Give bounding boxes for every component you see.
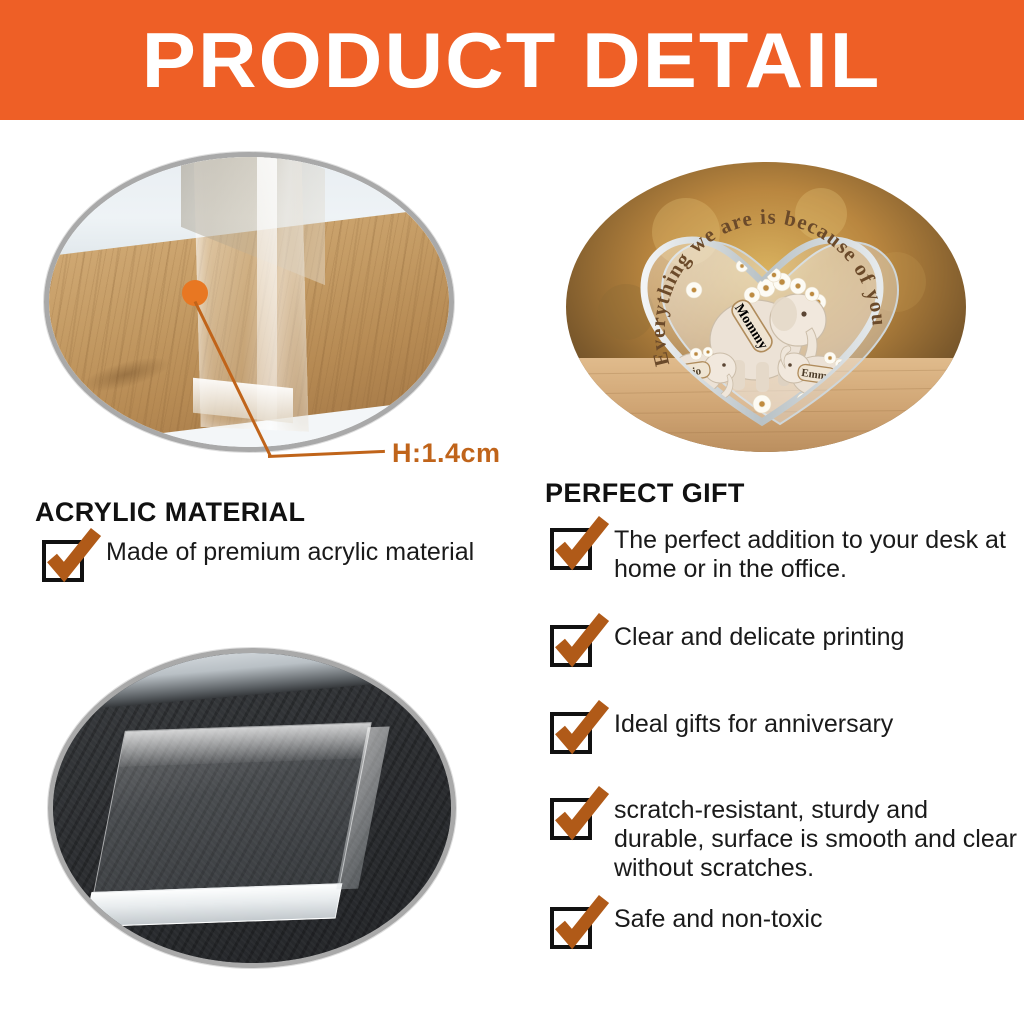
checkbox-checked[interactable]: [550, 625, 592, 667]
list-item-text: Ideal gifts for anniversary: [614, 710, 893, 739]
list-item-text: Made of premium acrylic material: [106, 538, 474, 567]
block-face-sheen: [119, 724, 370, 768]
checkbox-checked[interactable]: [550, 907, 592, 949]
acrylic-edge-on-wood-photo: [44, 152, 454, 452]
header-banner: PRODUCT DETAIL: [0, 0, 1024, 120]
checkmark-icon: [44, 528, 102, 586]
list-item-text: Safe and non-toxic: [614, 905, 822, 934]
checkmark-icon: [552, 613, 610, 671]
list-item: Made of premium acrylic material: [42, 540, 474, 582]
list-item-text: The perfect addition to your desk at hom…: [614, 526, 1024, 584]
heart-plaque-illustration: Mommy: [566, 162, 966, 452]
acrylic-square-block: [93, 722, 371, 893]
checkbox-checked[interactable]: [42, 540, 84, 582]
product-detail-infographic: PRODUCT DETAIL H:1.4cm: [0, 0, 1024, 1024]
list-item-text: Clear and delicate printing: [614, 623, 904, 652]
wood-grain-knot: [80, 350, 173, 399]
heart-acrylic-plaque-photo: Mommy: [566, 162, 966, 452]
slate-photo-scene: [53, 653, 451, 963]
section-heading-perfect-gift: PERFECT GIFT: [545, 478, 745, 509]
section-heading-acrylic-material: ACRYLIC MATERIAL: [35, 497, 305, 528]
page-title: PRODUCT DETAIL: [142, 21, 882, 99]
checkbox-checked[interactable]: [550, 528, 592, 570]
leader-line-segment-2: [268, 450, 385, 458]
block-top-face: [93, 722, 371, 893]
list-item: Ideal gifts for anniversary: [550, 712, 893, 754]
edge-photo-scene: [49, 157, 449, 447]
list-item: scratch-resistant, sturdy and durable, s…: [550, 798, 1024, 883]
list-item: Safe and non-toxic: [550, 907, 822, 949]
checkmark-icon: [552, 786, 610, 844]
checkbox-checked[interactable]: [550, 712, 592, 754]
list-item: The perfect addition to your desk at hom…: [550, 528, 1024, 584]
checkmark-icon: [552, 516, 610, 574]
acrylic-block-on-slate-photo: [48, 648, 456, 968]
list-item-text: scratch-resistant, sturdy and durable, s…: [614, 796, 1024, 883]
checkmark-icon: [552, 700, 610, 758]
checkmark-icon: [552, 895, 610, 953]
checkbox-checked[interactable]: [550, 798, 592, 840]
height-dimension-label: H:1.4cm: [392, 438, 501, 469]
list-item: Clear and delicate printing: [550, 625, 904, 667]
